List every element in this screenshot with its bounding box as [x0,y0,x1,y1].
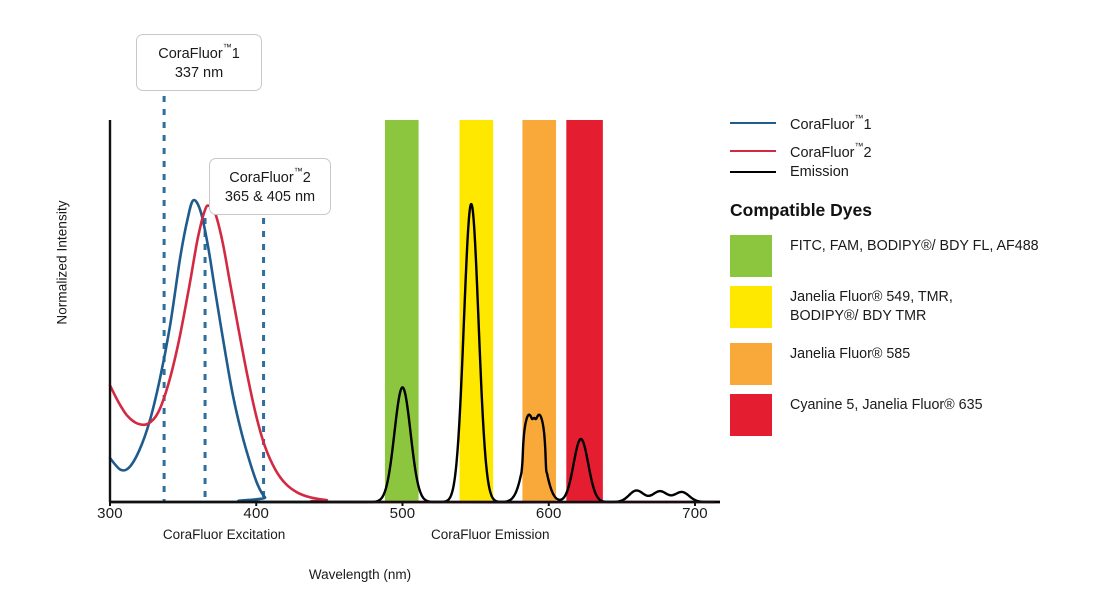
x-tick-700: 700 [682,505,708,522]
dye-row-janelia-585: Janelia Fluor® 585 [730,343,910,385]
legend-label-corafluor-1: CoraFluor™1 [790,113,872,133]
x-axis-title: Wavelength (nm) [0,567,720,582]
y-axis-title: Normalized Intensity [55,163,70,363]
dye-label-janelia-549: Janelia Fluor® 549, TMR, BODIPY®/ BDY TM… [790,286,953,326]
legend-label-emission: Emission [790,164,849,180]
color-swatch-red [730,394,772,436]
legend-item-corafluor-2: CoraFluor™2 [730,141,872,161]
callout-corafluor-1: CoraFluor™1 337 nm [136,34,262,91]
x-tick-500: 500 [390,505,416,522]
callout-0-line1: CoraFluor [158,46,222,62]
x-tick-400: 400 [243,505,269,522]
color-swatch-orange [730,343,772,385]
dye-row-fitc: FITC, FAM, BODIPY®/ BDY FL, AF488 [730,235,1039,277]
legend-item-corafluor-1: CoraFluor™1 [730,113,872,133]
dye-label-cyanine-5: Cyanine 5, Janelia Fluor® 635 [790,394,983,415]
emission-band [522,120,556,502]
callout-0-suffix: 1 [232,46,240,62]
callout-1-line2: 365 & 405 nm [222,188,318,207]
callout-corafluor-2: CoraFluor™2 365 & 405 nm [209,158,331,215]
trademark-icon: ™ [223,42,232,52]
spectra-plot: Normalized Intensity 300 400 500 600 700… [0,0,720,612]
legend-label-corafluor-2: CoraFluor™2 [790,141,872,161]
color-swatch-yellow [730,286,772,328]
x-tick-300: 300 [97,505,123,522]
dye-row-janelia-549: Janelia Fluor® 549, TMR, BODIPY®/ BDY TM… [730,286,953,328]
legend-panel: CoraFluor™1 CoraFluor™2 Emission Compati… [730,0,1110,612]
emission-band [385,120,419,502]
line-swatch-icon [730,171,776,173]
region-label-emission: CoraFluor Emission [431,527,550,542]
trademark-icon: ™ [294,166,303,176]
legend-item-emission: Emission [730,164,849,180]
x-tick-600: 600 [536,505,562,522]
callout-1-line1: CoraFluor [229,170,293,186]
callout-0-line2: 337 nm [149,64,249,83]
dye-row-cyanine-5: Cyanine 5, Janelia Fluor® 635 [730,394,983,436]
dye-label-fitc: FITC, FAM, BODIPY®/ BDY FL, AF488 [790,235,1039,256]
line-swatch-icon [730,150,776,152]
callout-1-suffix: 2 [303,170,311,186]
region-label-excitation: CoraFluor Excitation [163,527,285,542]
color-swatch-green [730,235,772,277]
line-swatch-icon [730,122,776,124]
compatible-dyes-heading: Compatible Dyes [730,200,872,221]
dye-label-janelia-585: Janelia Fluor® 585 [790,343,910,364]
